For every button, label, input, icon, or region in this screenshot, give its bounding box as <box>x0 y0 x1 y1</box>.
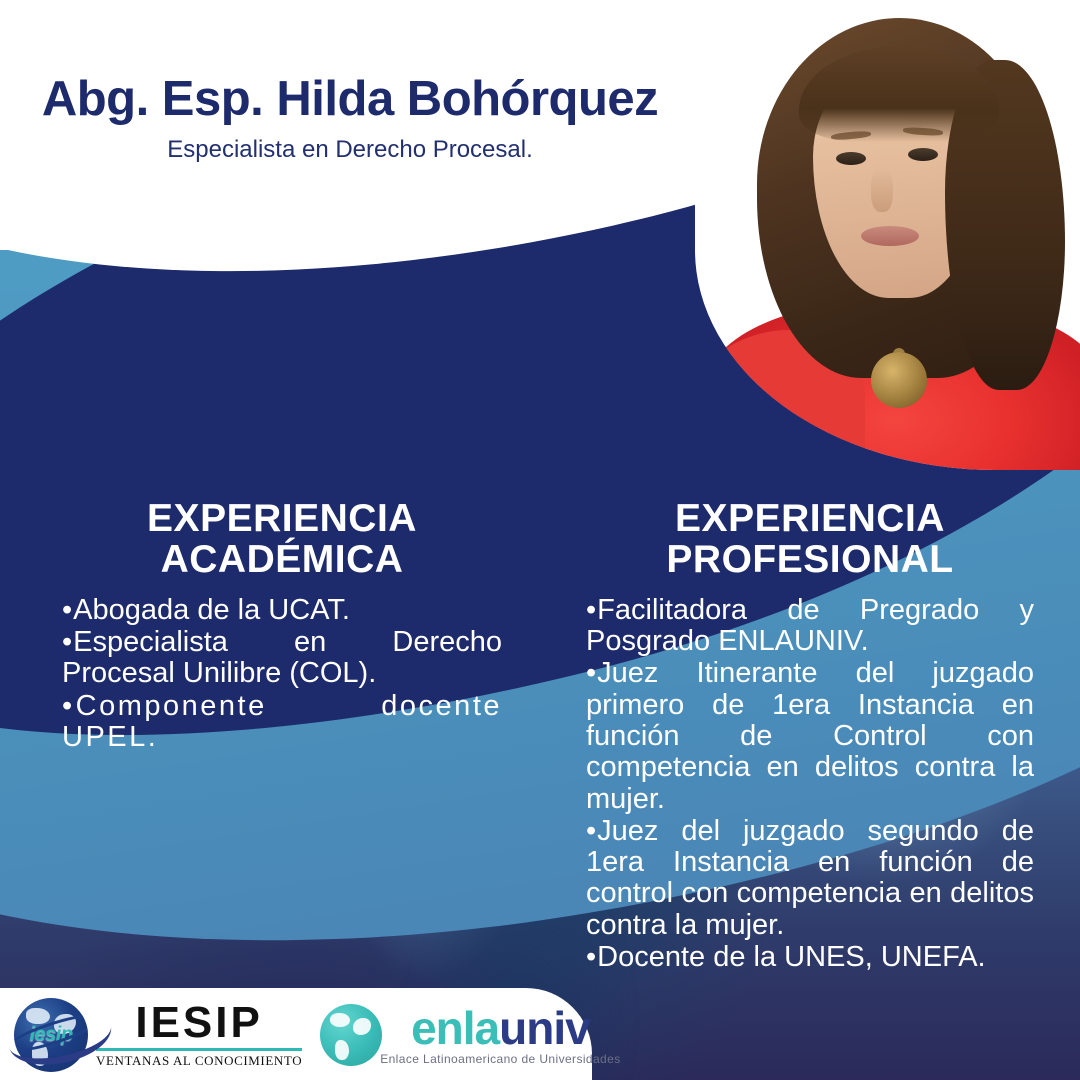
academic-title-line1: EXPERIENCIA <box>147 497 417 540</box>
enlauniv-wordmark: enlauniv Enlace Latinoamericano de Unive… <box>380 1005 620 1066</box>
list-item: Juez del juzgado segundo de 1era Instanc… <box>586 816 1034 941</box>
list-item: Juez Itinerante del juzgado primero de 1… <box>586 658 1034 815</box>
globe-landmass <box>26 1008 50 1024</box>
professional-title-line2: PROFESIONAL <box>586 539 1034 580</box>
header-block: Abg. Esp. Hilda Bohórquez Especialista e… <box>0 74 700 164</box>
academic-bullet-list: Abogada de la UCAT. Especialista en Dere… <box>62 595 502 754</box>
professional-section-title: EXPERIENCIA PROFESIONAL <box>586 498 1034 581</box>
iesip-tagline: VENTANAS AL CONOCIMIENTO <box>96 1053 302 1069</box>
iesip-logo: iesip IESIP VENTANAS AL CONOCIMIENTO <box>14 998 302 1072</box>
enlauniv-logo: enlauniv Enlace Latinoamericano de Unive… <box>320 1004 620 1066</box>
academic-experience-column: EXPERIENCIA ACADÉMICA Abogada de la UCAT… <box>62 498 502 754</box>
lips-shape <box>861 226 919 246</box>
professional-experience-column: EXPERIENCIA PROFESIONAL Facilitadora de … <box>586 498 1034 974</box>
globe-landmass <box>54 1014 76 1034</box>
page-title: Abg. Esp. Hilda Bohórquez <box>0 74 700 125</box>
iesip-divider <box>96 1048 302 1051</box>
portrait-photo <box>695 0 1080 470</box>
iesip-wordmark: IESIP VENTANAS AL CONOCIMIENTO <box>96 1001 302 1069</box>
enlauniv-name-part2: univ <box>499 1002 590 1054</box>
globe-landmass <box>32 1042 48 1066</box>
academic-title-line2: ACADÉMICA <box>62 539 502 580</box>
list-item: Componente docente UPEL. <box>62 691 502 754</box>
enlauniv-name: enlauniv <box>411 1005 590 1051</box>
nose-shape <box>871 168 893 212</box>
globe-landmass <box>353 1018 371 1035</box>
globe-icon <box>320 1004 382 1066</box>
iesip-globe-label: iesip <box>14 1024 88 1047</box>
academic-section-title: EXPERIENCIA ACADÉMICA <box>62 498 502 581</box>
enlauniv-tagline: Enlace Latinoamericano de Universidades <box>380 1052 620 1066</box>
professional-bullet-list: Facilitadora de Pregrado y Posgrado ENLA… <box>586 595 1034 974</box>
globe-icon: iesip <box>14 998 88 1072</box>
list-item: Facilitadora de Pregrado y Posgrado ENLA… <box>586 595 1034 658</box>
professional-title-line1: EXPERIENCIA <box>675 497 945 540</box>
list-item: Docente de la UNES, UNEFA. <box>586 942 1034 973</box>
right-eye <box>908 148 938 161</box>
necklace-pendant <box>871 352 927 408</box>
globe-landmass <box>330 1013 350 1027</box>
left-eye <box>836 152 866 165</box>
poster-canvas: Abg. Esp. Hilda Bohórquez Especialista e… <box>0 0 1080 1080</box>
globe-landmass <box>335 1040 349 1060</box>
page-subtitle: Especialista en Derecho Procesal. <box>0 137 700 163</box>
enlauniv-name-part1: enla <box>411 1002 499 1054</box>
iesip-name: IESIP <box>135 1001 263 1045</box>
list-item: Especialista en Derecho Procesal Unilibr… <box>62 627 502 690</box>
list-item: Abogada de la UCAT. <box>62 595 502 626</box>
footer-logos: iesip IESIP VENTANAS AL CONOCIMIENTO enl… <box>14 998 621 1072</box>
